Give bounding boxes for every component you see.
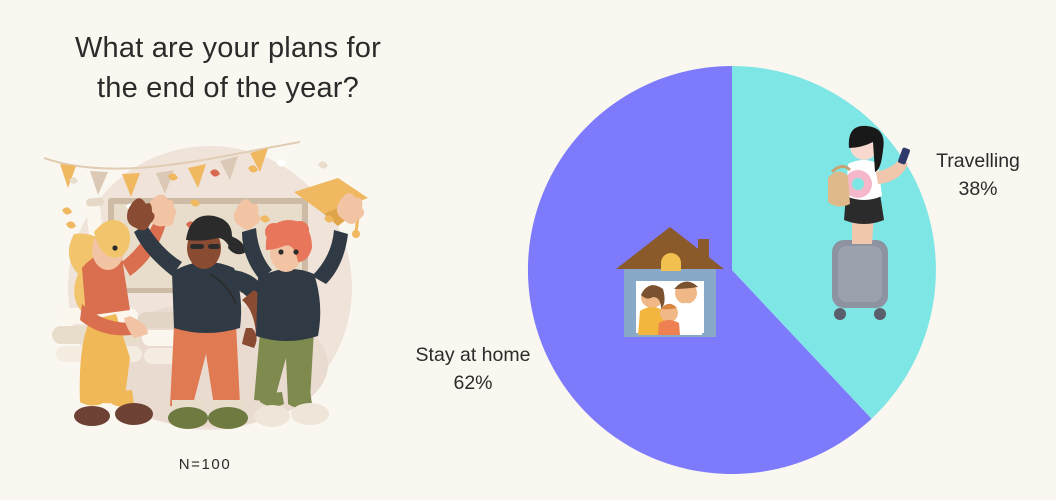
pie-label-stay-at-home-value: 62% — [398, 370, 548, 398]
pie-label-stay-at-home: Stay at home 62% — [398, 342, 548, 397]
infographic-canvas: What are your plans for the end of the y… — [0, 0, 1056, 500]
page-title-line-1: What are your plans for — [28, 28, 428, 68]
sample-size-caption: N=100 — [105, 456, 305, 473]
pie-chart — [520, 58, 944, 482]
pie-label-travelling-value: 38% — [908, 176, 1048, 204]
graduation-celebration-illustration — [38, 140, 378, 440]
pie-label-travelling: Travelling 38% — [908, 148, 1048, 203]
page-title: What are your plans for the end of the y… — [28, 28, 428, 108]
pie-chart-svg — [520, 58, 944, 482]
pie-label-stay-at-home-name: Stay at home — [416, 344, 531, 366]
page-title-line-2: the end of the year? — [28, 68, 428, 108]
pie-label-travelling-name: Travelling — [936, 150, 1020, 172]
illustration-svg — [38, 140, 378, 440]
